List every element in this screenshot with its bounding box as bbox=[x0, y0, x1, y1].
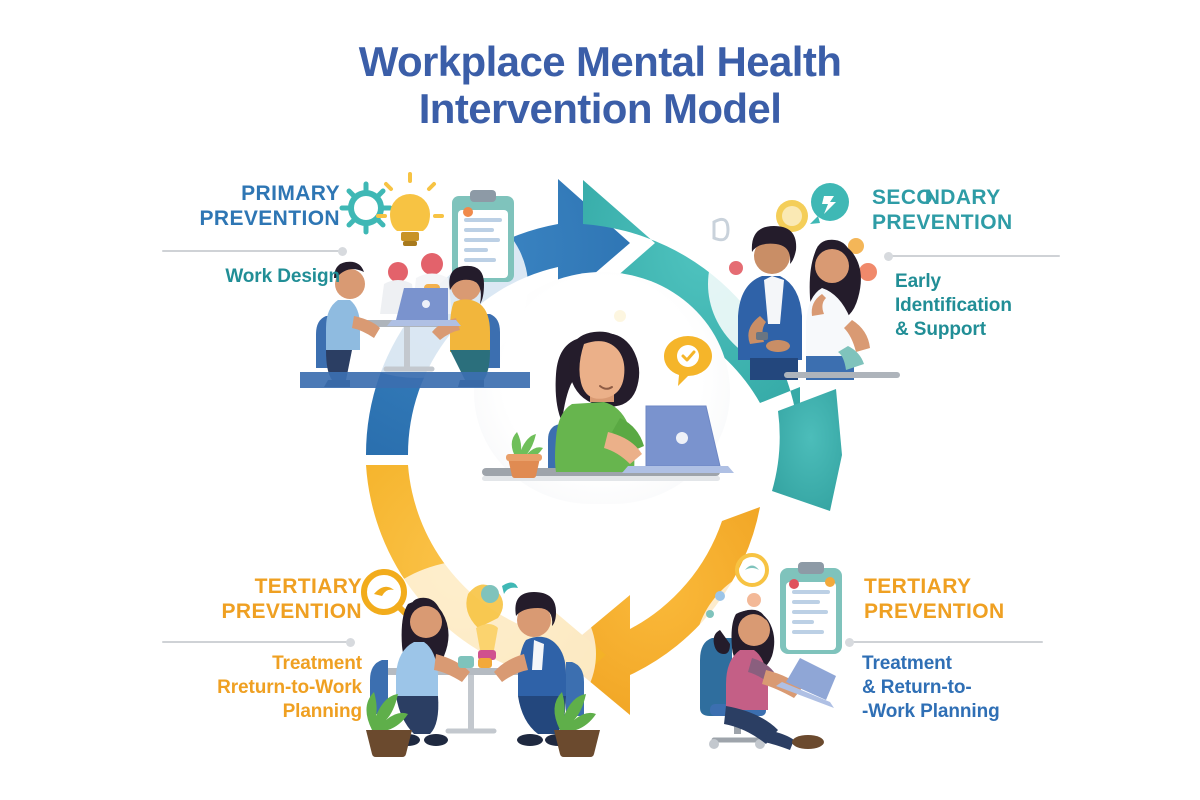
kicker-line-1: SECONDARY bbox=[872, 186, 1192, 211]
connector-primary bbox=[162, 246, 350, 256]
kicker-line-1: TERTIARY bbox=[40, 575, 362, 600]
label-tertiary-right[interactable]: TERTIARY PREVENTION bbox=[864, 575, 1194, 625]
label-tertiary-right-subtitle: Treatment & Return-to- -Work Planning bbox=[862, 652, 1192, 723]
subtitle-line-1: Treatment bbox=[862, 652, 1192, 676]
subtitle-line-3: -Work Planning bbox=[862, 700, 1192, 724]
subtitle-line-3: Planning bbox=[40, 700, 362, 724]
kicker-line-2: PREVENTION bbox=[872, 211, 1192, 236]
label-secondary-prevention[interactable]: SECONDARY PREVENTION bbox=[872, 186, 1192, 236]
label-primary-prevention[interactable]: PRIMARY PREVENTION bbox=[20, 182, 340, 232]
page-title: Workplace Mental Health Intervention Mod… bbox=[0, 38, 1200, 132]
infographic-canvas: Workplace Mental Health Intervention Mod… bbox=[0, 0, 1200, 800]
clipboard-icon bbox=[780, 562, 842, 654]
label-kicker: PRIMARY PREVENTION bbox=[20, 182, 340, 232]
potted-plant-right-icon bbox=[554, 692, 600, 757]
scene-tertiary-left bbox=[352, 550, 602, 760]
person-at-laptop-illustration bbox=[555, 332, 644, 472]
arrow-segment-right-shard bbox=[772, 389, 842, 511]
title-line-1: Workplace Mental Health bbox=[0, 38, 1200, 85]
subtitle-line-2: Identification bbox=[895, 294, 1195, 318]
kicker-line-2: PREVENTION bbox=[864, 600, 1194, 625]
label-kicker: TERTIARY PREVENTION bbox=[40, 575, 362, 625]
kicker-line-1: PRIMARY bbox=[20, 182, 340, 207]
label-tertiary-left-subtitle: Treatment Rreturn-to-Work Planning bbox=[40, 652, 362, 723]
connector-tertiary-left bbox=[162, 637, 358, 647]
label-primary-subtitle: Work Design bbox=[20, 265, 340, 289]
subtitle-line-1: Work Design bbox=[20, 265, 340, 289]
label-tertiary-left[interactable]: TERTIARY PREVENTION bbox=[40, 575, 362, 625]
label-kicker: SECONDARY PREVENTION bbox=[872, 186, 1192, 236]
scene-tertiary-right bbox=[690, 552, 880, 752]
label-secondary-subtitle: Early Identification & Support bbox=[895, 270, 1195, 341]
kicker-line-2: PREVENTION bbox=[40, 600, 362, 625]
connector-tertiary-right bbox=[845, 637, 1043, 647]
subtitle-line-1: Treatment bbox=[40, 652, 362, 676]
kicker-line-1: TERTIARY bbox=[864, 575, 1194, 600]
kicker-line-2: PREVENTION bbox=[20, 207, 340, 232]
subtitle-line-2: & Return-to- bbox=[862, 676, 1192, 700]
subtitle-line-2: Rreturn-to-Work bbox=[40, 676, 362, 700]
connector-secondary bbox=[884, 251, 1060, 261]
scene-secondary-prevention bbox=[700, 180, 900, 380]
subtitle-line-1: Early bbox=[895, 270, 1195, 294]
subtitle-line-3: & Support bbox=[895, 318, 1195, 342]
title-line-2: Intervention Model bbox=[0, 85, 1200, 132]
label-kicker: TERTIARY PREVENTION bbox=[864, 575, 1194, 625]
